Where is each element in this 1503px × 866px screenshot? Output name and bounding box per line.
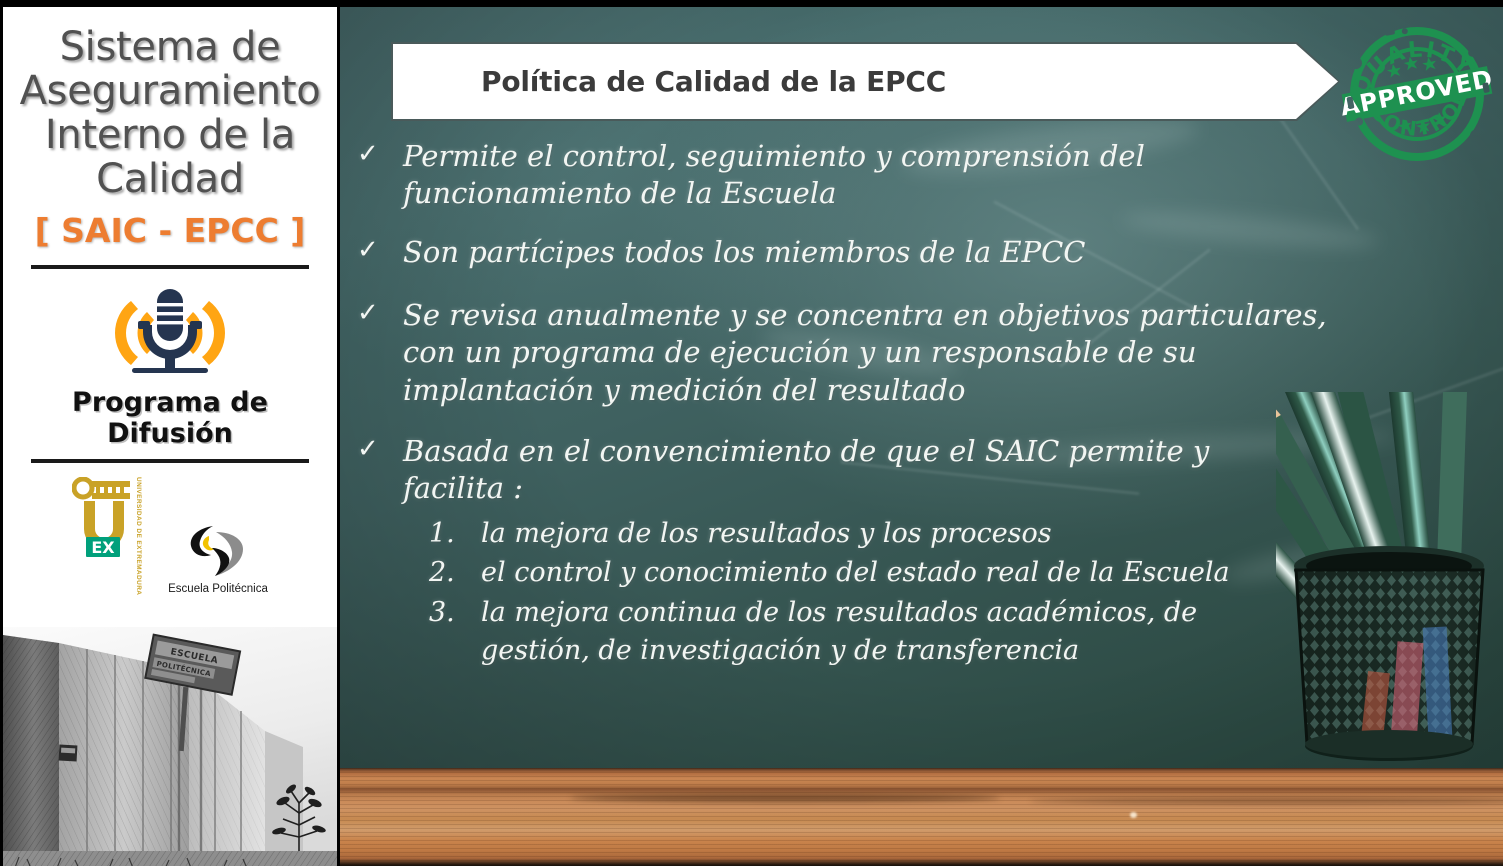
checkmark-icon: ✓: [357, 234, 403, 271]
list-number: 2.: [429, 554, 481, 592]
escuela-politecnica-swoosh-icon: [185, 522, 251, 580]
escuela-politecnica-building-photo: ESCUELA POLITÉCNICA: [3, 627, 337, 866]
sidebar-title-line: Interno de la: [17, 113, 323, 157]
checkmark-icon: ✓: [357, 138, 403, 212]
numbered-text: la mejora continua de los resultados aca…: [481, 594, 1197, 671]
bullet-text: Permite el control, seguimiento y compre…: [403, 138, 1145, 212]
program-label-line: Programa de: [3, 387, 337, 418]
sidebar-title-line: Sistema de: [17, 25, 323, 69]
slide-root: ✓ Permite el control, seguimiento y comp…: [0, 0, 1503, 866]
page-title: Política de Calidad de la EPCC: [481, 42, 946, 121]
bullet-item: ✓ Permite el control, seguimiento y comp…: [357, 138, 1447, 212]
escuela-politecnica-logo: Escuela Politécnica: [168, 522, 268, 595]
title-banner: Política de Calidad de la EPCC: [391, 42, 1340, 121]
desk-grain: [340, 768, 1503, 866]
numbered-text: el control y conocimiento del estado rea…: [481, 554, 1230, 592]
wooden-desk: [340, 768, 1503, 866]
sidebar-subtitle: [ SAIC - EPCC ]: [3, 213, 337, 249]
program-label-line: Difusión: [3, 418, 337, 449]
divider: [31, 265, 309, 269]
checkmark-icon: ✓: [357, 433, 403, 507]
uex-logo: EX UNIVERSIDAD DE EXTREMADURA: [72, 477, 142, 595]
logo-row: EX UNIVERSIDAD DE EXTREMADURA Escuela Po…: [3, 477, 337, 595]
list-number: 1.: [429, 515, 481, 553]
microphone-broadcast-icon: [77, 281, 263, 385]
desk-speck: [1130, 812, 1137, 818]
numbered-text: la mejora de los resultados y los proces…: [481, 515, 1052, 553]
microphone-logo: [3, 281, 337, 385]
program-label: Programa de Difusión: [3, 387, 337, 449]
bullet-item: ✓ Son partícipes todos los miembros de l…: [357, 234, 1447, 271]
quality-approved-stamp-icon: QUALITY CONTROL APPROVED: [1337, 14, 1497, 174]
sidebar-title-line: Aseguramiento: [17, 69, 323, 113]
bullet-text: Son partícipes todos los miembros de la …: [403, 234, 1086, 271]
colored-pencils-icon: [1276, 392, 1503, 782]
sidebar-panel: Sistema de Aseguramiento Interno de la C…: [3, 7, 337, 866]
escuela-politecnica-label: Escuela Politécnica: [168, 583, 268, 595]
bullet-text: Se revisa anualmente y se concentra en o…: [403, 297, 1327, 408]
checkmark-icon: ✓: [357, 297, 403, 408]
divider: [31, 459, 309, 463]
desk-knot: [570, 794, 1000, 802]
uex-vertical-text: UNIVERSIDAD DE EXTREMADURA: [135, 477, 142, 595]
desk-knot: [1030, 798, 1503, 804]
svg-text:EX: EX: [91, 538, 115, 557]
sidebar-title-line: Calidad: [17, 157, 323, 201]
uex-shield-icon: EX: [72, 477, 132, 559]
bullet-text: Basada en el convencimiento de que el SA…: [403, 433, 1209, 507]
sidebar-title: Sistema de Aseguramiento Interno de la C…: [17, 25, 323, 201]
list-number: 3.: [429, 594, 481, 671]
